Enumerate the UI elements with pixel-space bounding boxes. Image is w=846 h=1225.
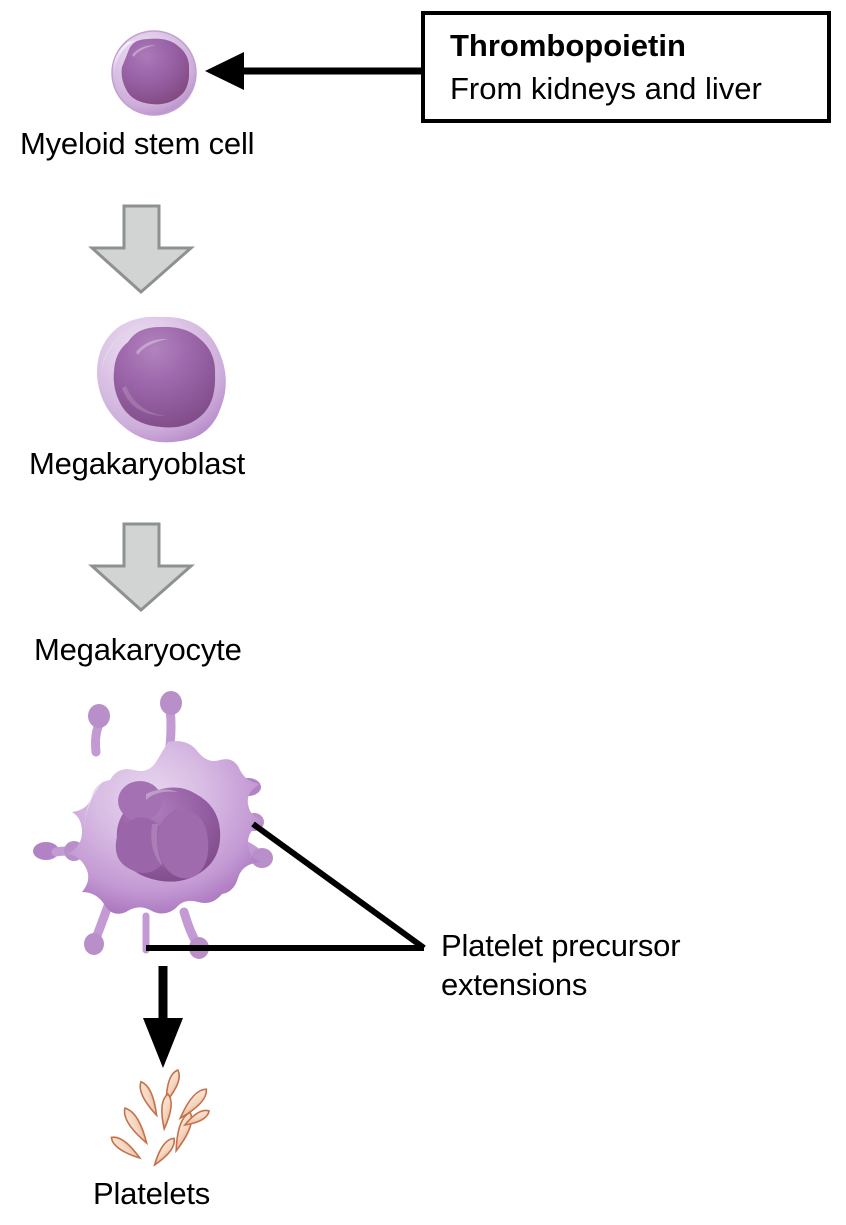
leader-line-upper-extension (253, 824, 424, 948)
arrow-megakaryocyte-to-platelets (143, 966, 183, 1068)
diagram-artwork (0, 0, 846, 1225)
diagram-canvas: Thrombopoietin From kidneys and liver (0, 0, 846, 1225)
label-megakaryocyte: Megakaryocyte (34, 632, 242, 669)
megakaryoblast (97, 317, 226, 443)
megakaryocyte (33, 691, 273, 959)
label-platelet-precursor-extensions-line1: Platelet precursor (441, 928, 680, 965)
label-platelets: Platelets (93, 1176, 210, 1213)
platelets-cluster (109, 1068, 211, 1167)
label-platelet-precursor-extensions-line2: extensions (441, 967, 587, 1004)
label-megakaryoblast: Megakaryoblast (29, 446, 245, 483)
arrow-blast-to-cyte (92, 524, 191, 610)
arrow-stem-to-blast (92, 206, 191, 292)
myeloid-stem-cell (112, 31, 196, 115)
label-myeloid-stem-cell: Myeloid stem cell (20, 126, 254, 163)
arrow-thrombopoietin-to-stem-cell (205, 52, 421, 90)
